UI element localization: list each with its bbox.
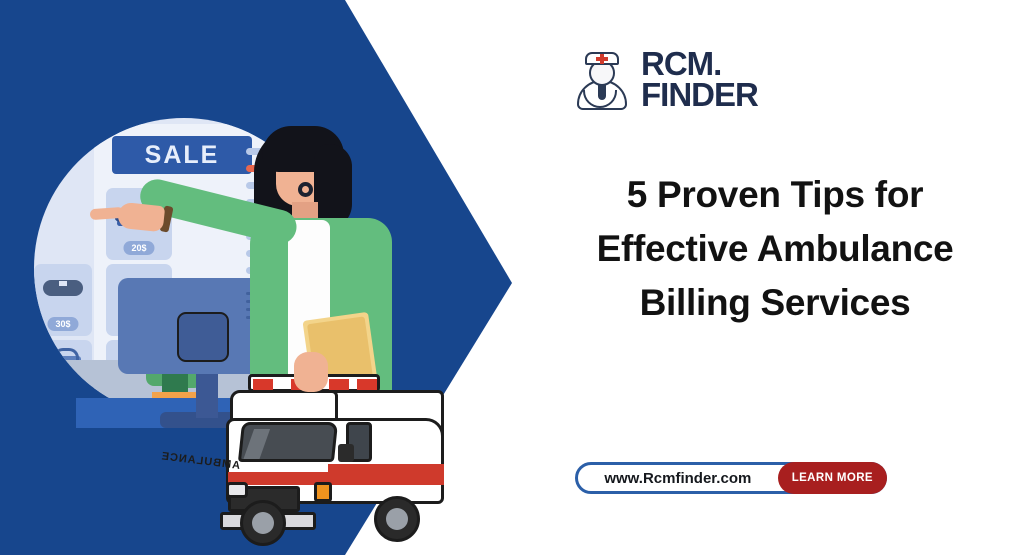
monitor-mount-plate bbox=[177, 312, 229, 362]
earring-icon bbox=[298, 182, 313, 197]
right-content-panel: RCM. FINDER 5 Proven Tips for Effective … bbox=[525, 0, 1024, 555]
price-label: 30$ bbox=[47, 317, 78, 331]
holding-hand bbox=[294, 352, 328, 392]
website-url-text: www.Rcmfinder.com bbox=[578, 470, 778, 487]
headline-title: 5 Proven Tips for Effective Ambulance Bi… bbox=[561, 168, 989, 330]
price-label: 20$ bbox=[123, 241, 154, 255]
red-stripe bbox=[228, 472, 444, 485]
rear-wheel bbox=[374, 496, 420, 542]
side-mirror bbox=[338, 444, 354, 462]
turn-signal-light bbox=[314, 482, 332, 502]
poster-canvas: SALE 20$ 30$ 50$ 77$ 95$ bbox=[0, 0, 1024, 555]
product-card-sunglasses: 30$ bbox=[34, 264, 92, 336]
windshield bbox=[238, 422, 338, 462]
sale-banner-label: SALE bbox=[112, 136, 252, 174]
medical-cross-icon bbox=[596, 57, 608, 61]
ambulance-vehicle: AMBULANCE bbox=[196, 360, 466, 555]
learn-more-button[interactable]: LEARN MORE bbox=[778, 462, 887, 494]
brand-wordmark: RCM. FINDER bbox=[641, 48, 758, 111]
index-finger bbox=[90, 207, 125, 220]
headlight bbox=[226, 482, 248, 498]
sunglasses-icon bbox=[43, 280, 83, 296]
woman-character bbox=[240, 118, 400, 398]
brand-logo: RCM. FINDER bbox=[573, 48, 758, 111]
cta-url-bar[interactable]: www.Rcmfinder.com LEARN MORE bbox=[575, 462, 887, 494]
front-wheel bbox=[240, 500, 286, 546]
doctor-avatar-icon bbox=[573, 48, 631, 110]
logo-line-2: FINDER bbox=[641, 79, 758, 110]
logo-line-1: RCM. bbox=[641, 48, 758, 79]
